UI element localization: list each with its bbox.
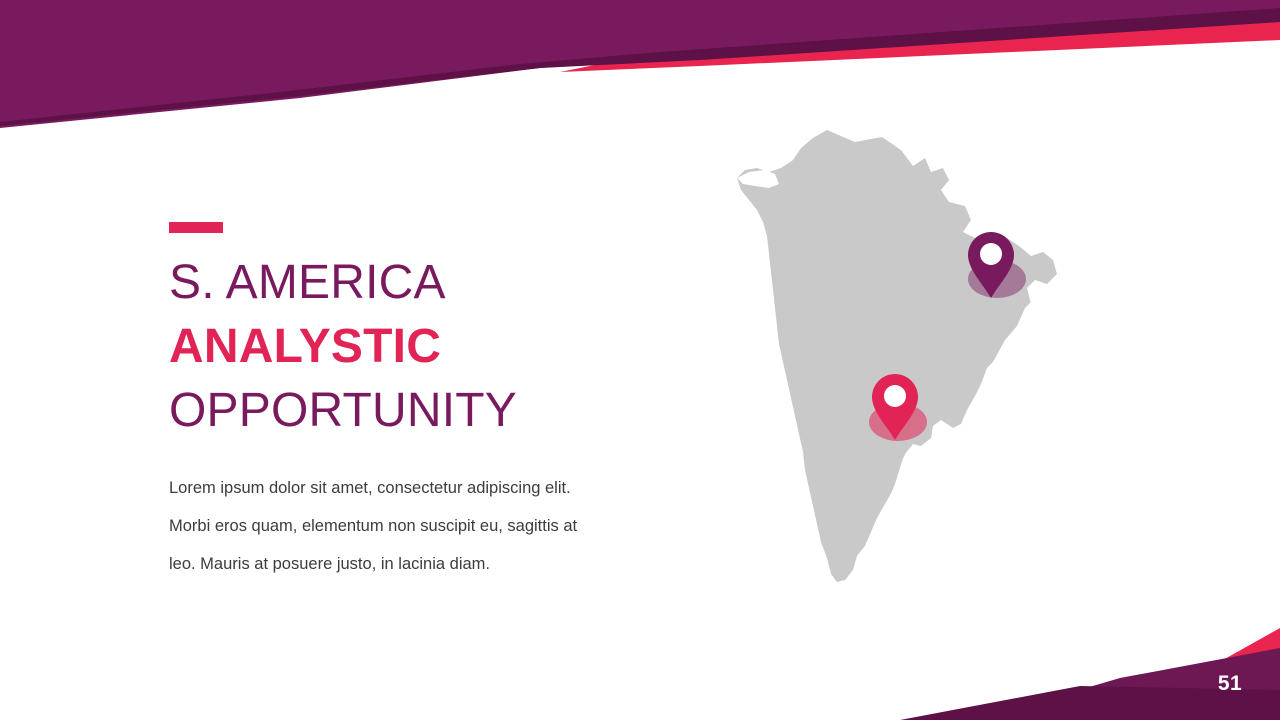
- top-dark-purple-shape: [0, 0, 1280, 126]
- body-paragraph-2: Morbi eros quam, elementum non suscipit …: [169, 507, 636, 545]
- south-america-map: [735, 128, 1065, 638]
- page-number: 51: [1206, 672, 1254, 696]
- title-line-2: ANALYSTIC: [169, 315, 649, 379]
- top-purple-shape: [0, 0, 1280, 128]
- body-paragraph-1: Lorem ipsum dolor sit amet, consectetur …: [169, 469, 636, 507]
- page-title: S. AMERICA ANALYSTIC OPPORTUNITY: [169, 251, 649, 443]
- accent-bar: [169, 222, 223, 233]
- title-line-3: OPPORTUNITY: [169, 379, 649, 443]
- top-purple-overlay: [0, 0, 1280, 122]
- title-line-1: S. AMERICA: [169, 251, 649, 315]
- body-paragraph-3: leo. Mauris at posuere justo, in lacinia…: [169, 545, 636, 583]
- top-pink-wedge: [560, 10, 1280, 72]
- body-text: Lorem ipsum dolor sit amet, consectetur …: [169, 469, 636, 583]
- slide: S. AMERICA ANALYSTIC OPPORTUNITY Lorem i…: [0, 0, 1280, 720]
- marker-brazil-hole: [980, 243, 1002, 265]
- text-column: S. AMERICA ANALYSTIC OPPORTUNITY Lorem i…: [169, 222, 649, 583]
- marker-bolivia-hole: [884, 385, 906, 407]
